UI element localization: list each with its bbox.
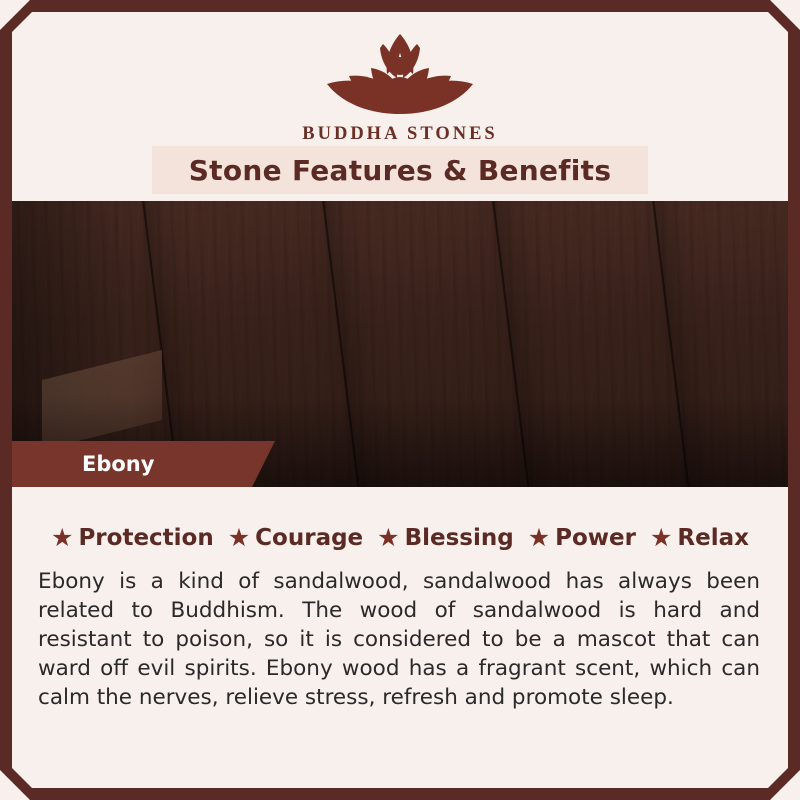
star-icon: ★ [650, 526, 672, 551]
star-icon: ★ [528, 526, 550, 551]
brand-logo-block: BUDDHA STONES [0, 18, 800, 145]
feature-label: Protection [78, 525, 213, 551]
frame-border-top [0, 0, 800, 12]
feature-label: Blessing [405, 525, 514, 551]
frame-border-bottom [0, 788, 800, 800]
lotus-meditation-icon [305, 18, 495, 122]
page-title: Stone Features & Benefits [189, 154, 612, 187]
title-banner: Stone Features & Benefits [152, 146, 648, 194]
feature-label: Relax [677, 525, 749, 551]
feature-item-blessing: ★ Blessing [371, 525, 520, 551]
brand-name: BUDDHA STONES [0, 124, 800, 145]
stone-name-tag: Ebony [12, 441, 252, 487]
feature-item-power: ★ Power [522, 525, 642, 551]
corner-notch-bottom-left [0, 770, 30, 800]
stone-name: Ebony [12, 452, 154, 476]
star-icon: ★ [377, 526, 399, 551]
feature-item-courage: ★ Courage [222, 525, 369, 551]
feature-item-protection: ★ Protection [45, 525, 220, 551]
feature-label: Courage [255, 525, 363, 551]
corner-notch-bottom-right [770, 770, 800, 800]
feature-label: Power [555, 525, 636, 551]
feature-item-relax: ★ Relax [644, 525, 755, 551]
infographic-card: BUDDHA STONES Stone Features & Benefits … [0, 0, 800, 800]
description-text: Ebony is a kind of sandalwood, sandalwoo… [38, 567, 760, 712]
star-icon: ★ [228, 526, 250, 551]
features-list: ★ Protection ★ Courage ★ Blessing ★ Powe… [12, 525, 788, 551]
star-icon: ★ [51, 526, 73, 551]
